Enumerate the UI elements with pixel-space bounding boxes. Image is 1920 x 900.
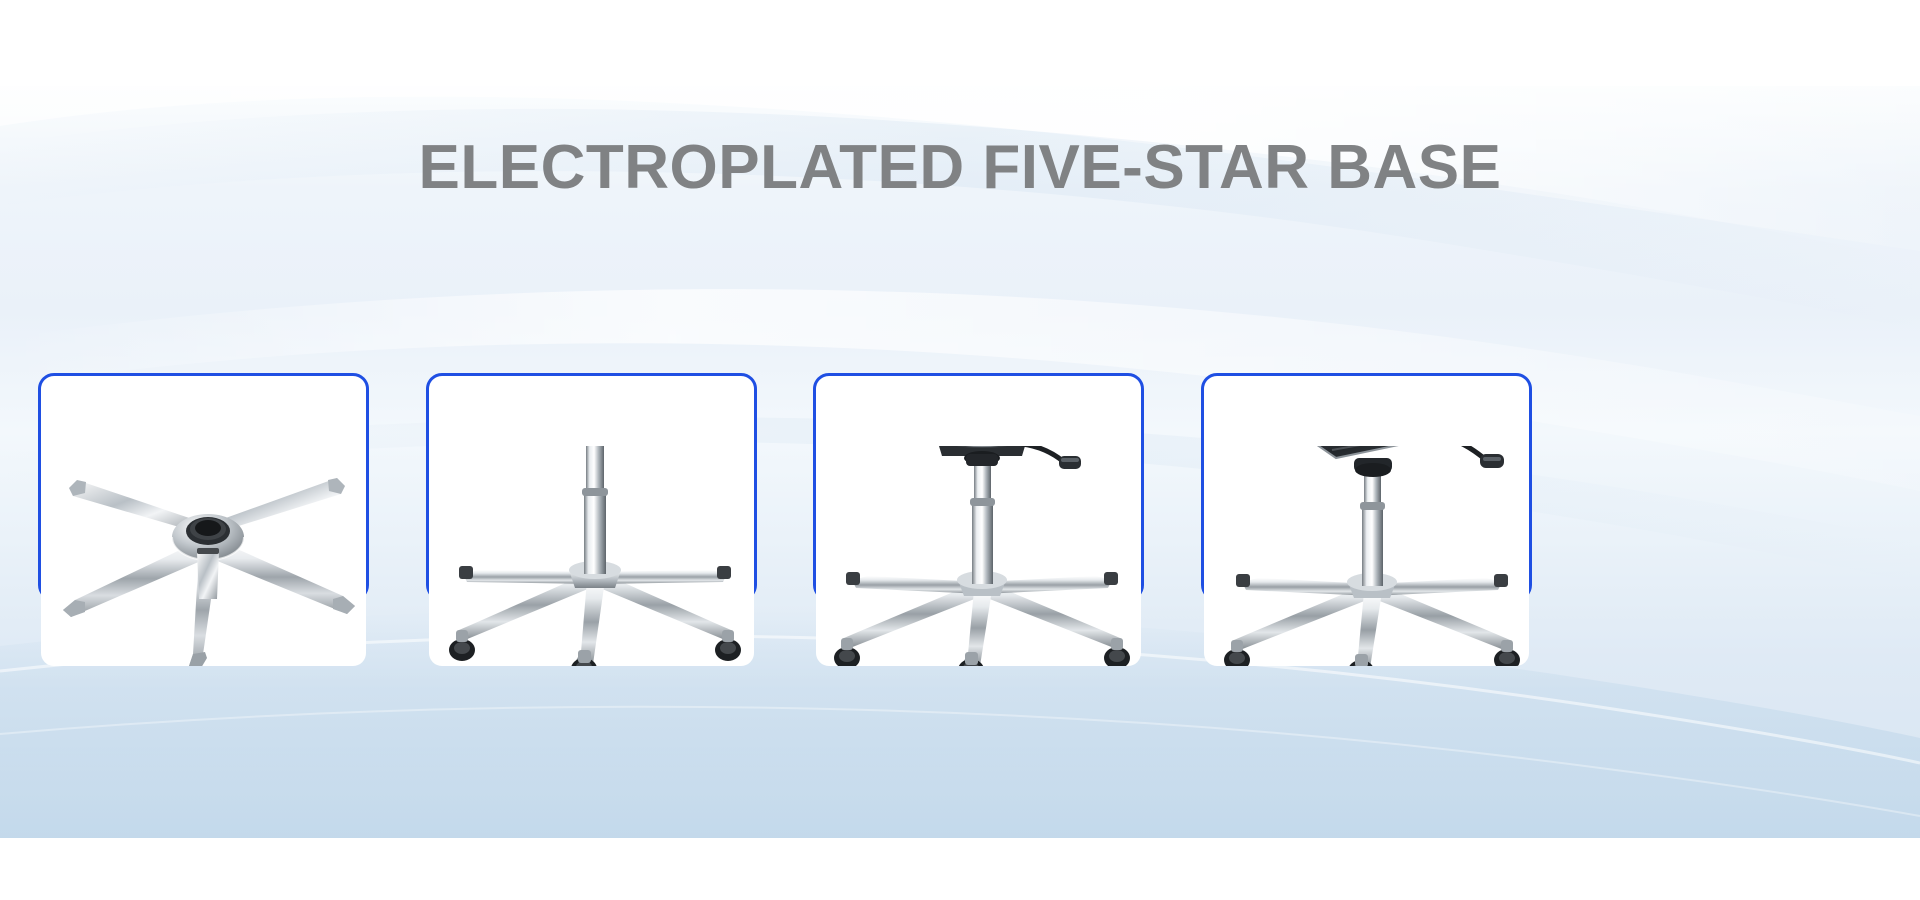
product-banner: ELECTROPLATED FIVE-STAR BASE (0, 0, 1920, 900)
gallery-card-base-with-gas-lift[interactable] (426, 373, 757, 601)
gallery-card-image-clip (816, 446, 1141, 666)
gallery-card-base-only[interactable] (38, 373, 369, 601)
chair-base-gas-lift-icon (429, 446, 754, 666)
gallery-card-base-with-seat-plate[interactable] (1201, 373, 1532, 601)
top-white-strip (0, 0, 1920, 86)
page-title: ELECTROPLATED FIVE-STAR BASE (0, 133, 1920, 203)
product-gallery (38, 373, 1532, 601)
chair-base-seat-plate-icon (1204, 446, 1529, 666)
gallery-card-base-with-tilt-mechanism[interactable] (813, 373, 1144, 601)
chair-base-star-icon (41, 446, 366, 666)
bottom-white-strip (0, 838, 1920, 900)
chair-base-tilt-mechanism-icon (816, 446, 1141, 666)
gallery-card-image-clip (1204, 446, 1529, 666)
gallery-card-image-clip (429, 446, 754, 666)
gallery-card-image-clip (41, 446, 366, 666)
